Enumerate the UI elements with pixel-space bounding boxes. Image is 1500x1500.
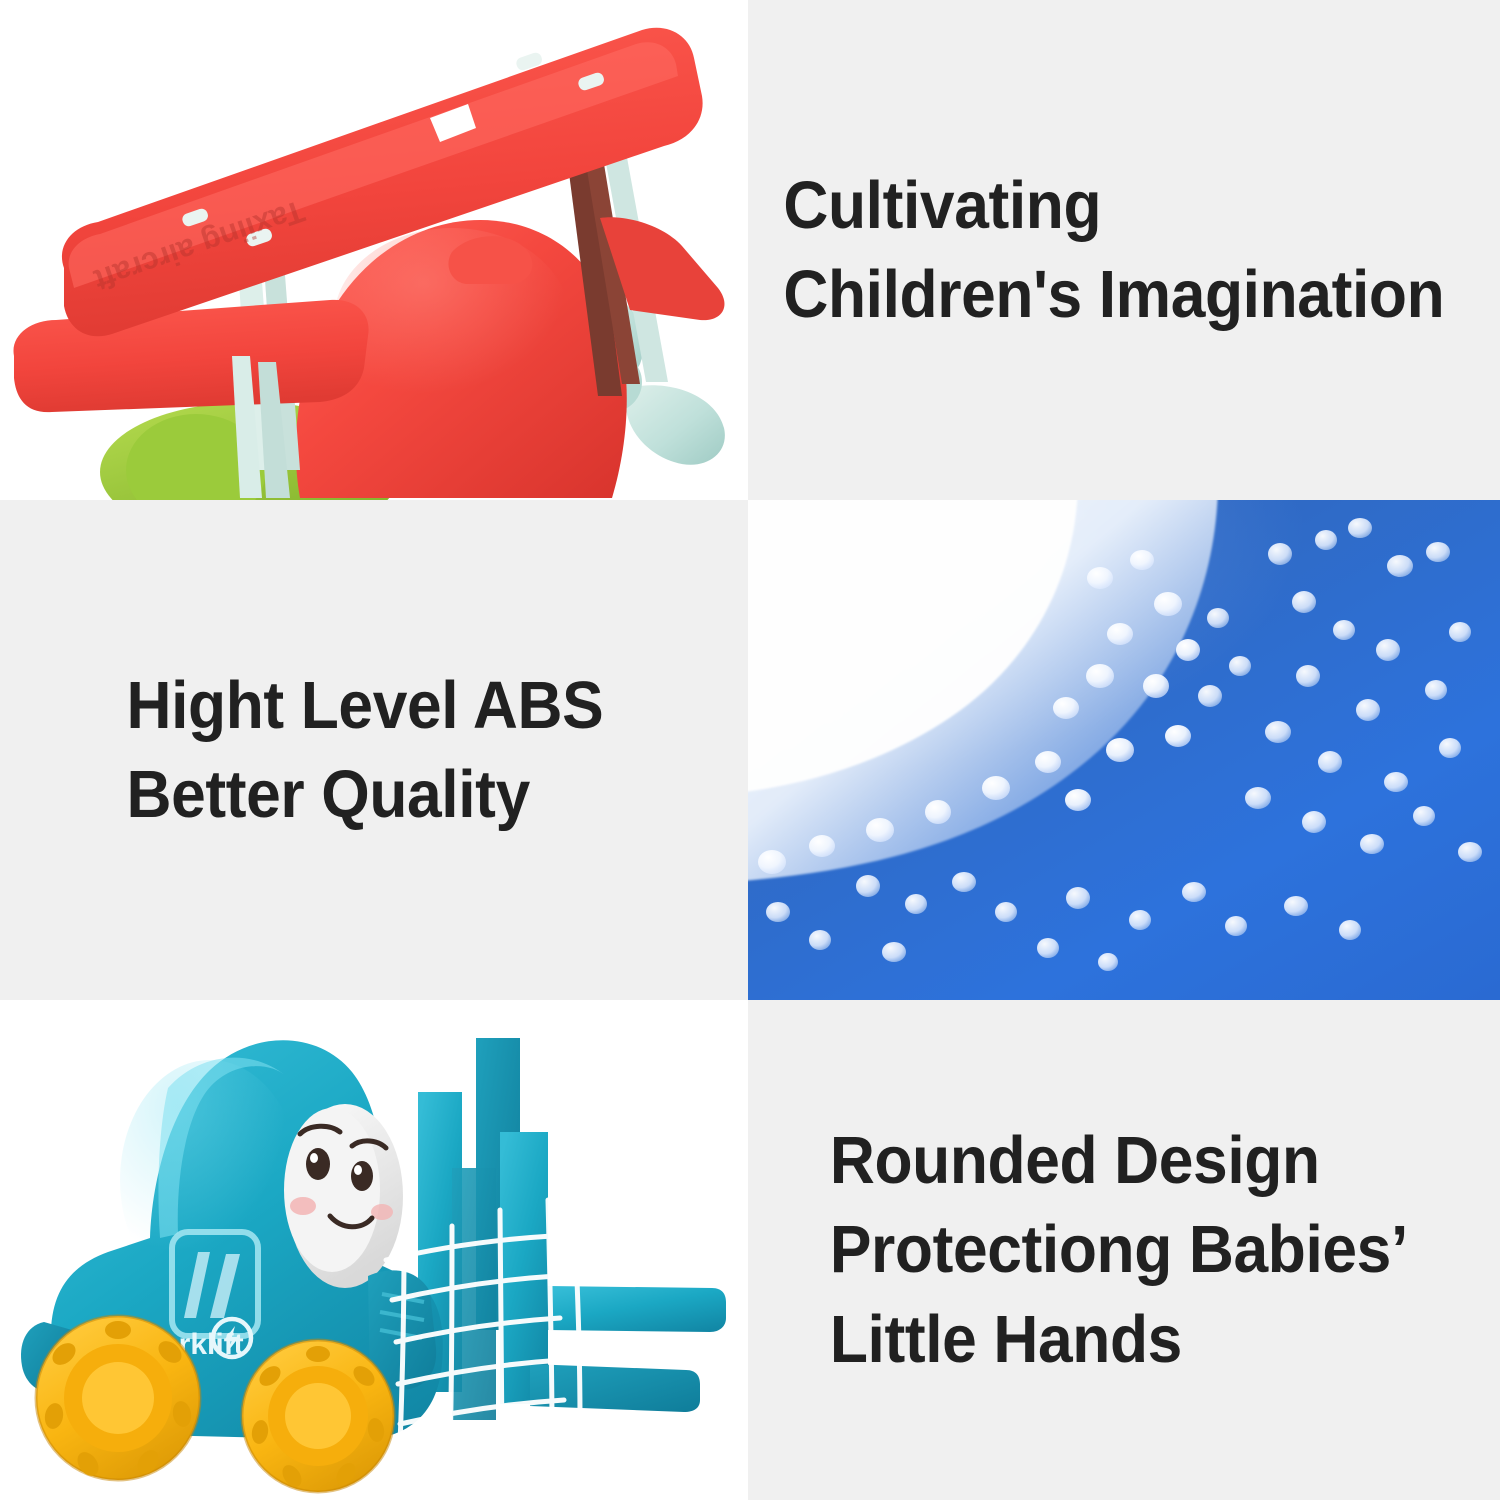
headline-imagination-line1: Cultivating (748, 161, 1447, 250)
headline-abs-line1: Hight Level ABS (0, 661, 696, 750)
abs-pellets-image (748, 500, 1500, 1000)
panel-headline-imagination: Cultivating Children's Imagination (748, 0, 1500, 500)
toy-forklift-image: Forklift (0, 1000, 748, 1500)
headline-rounded-line3: Little Hands (748, 1295, 1447, 1384)
panel-pellets-photo (748, 500, 1500, 1000)
headline-rounded-line2: Protectiong Babies’ (748, 1205, 1447, 1294)
panel-headline-rounded: Rounded Design Protectiong Babies’ Littl… (748, 1000, 1500, 1500)
panel-forklift-photo: Forklift (0, 1000, 748, 1500)
headline-rounded-line1: Rounded Design (748, 1116, 1447, 1205)
toy-airplane-image: Taxiing aircraft (0, 0, 748, 500)
headline-abs-line2: Better Quality (0, 750, 696, 839)
panel-plane-photo: Taxiing aircraft (0, 0, 748, 500)
headline-imagination-line2: Children's Imagination (748, 250, 1447, 339)
product-feature-grid: Taxiing aircraft Cultivating Children's … (0, 0, 1500, 1500)
panel-headline-abs: Hight Level ABS Better Quality (0, 500, 748, 1000)
